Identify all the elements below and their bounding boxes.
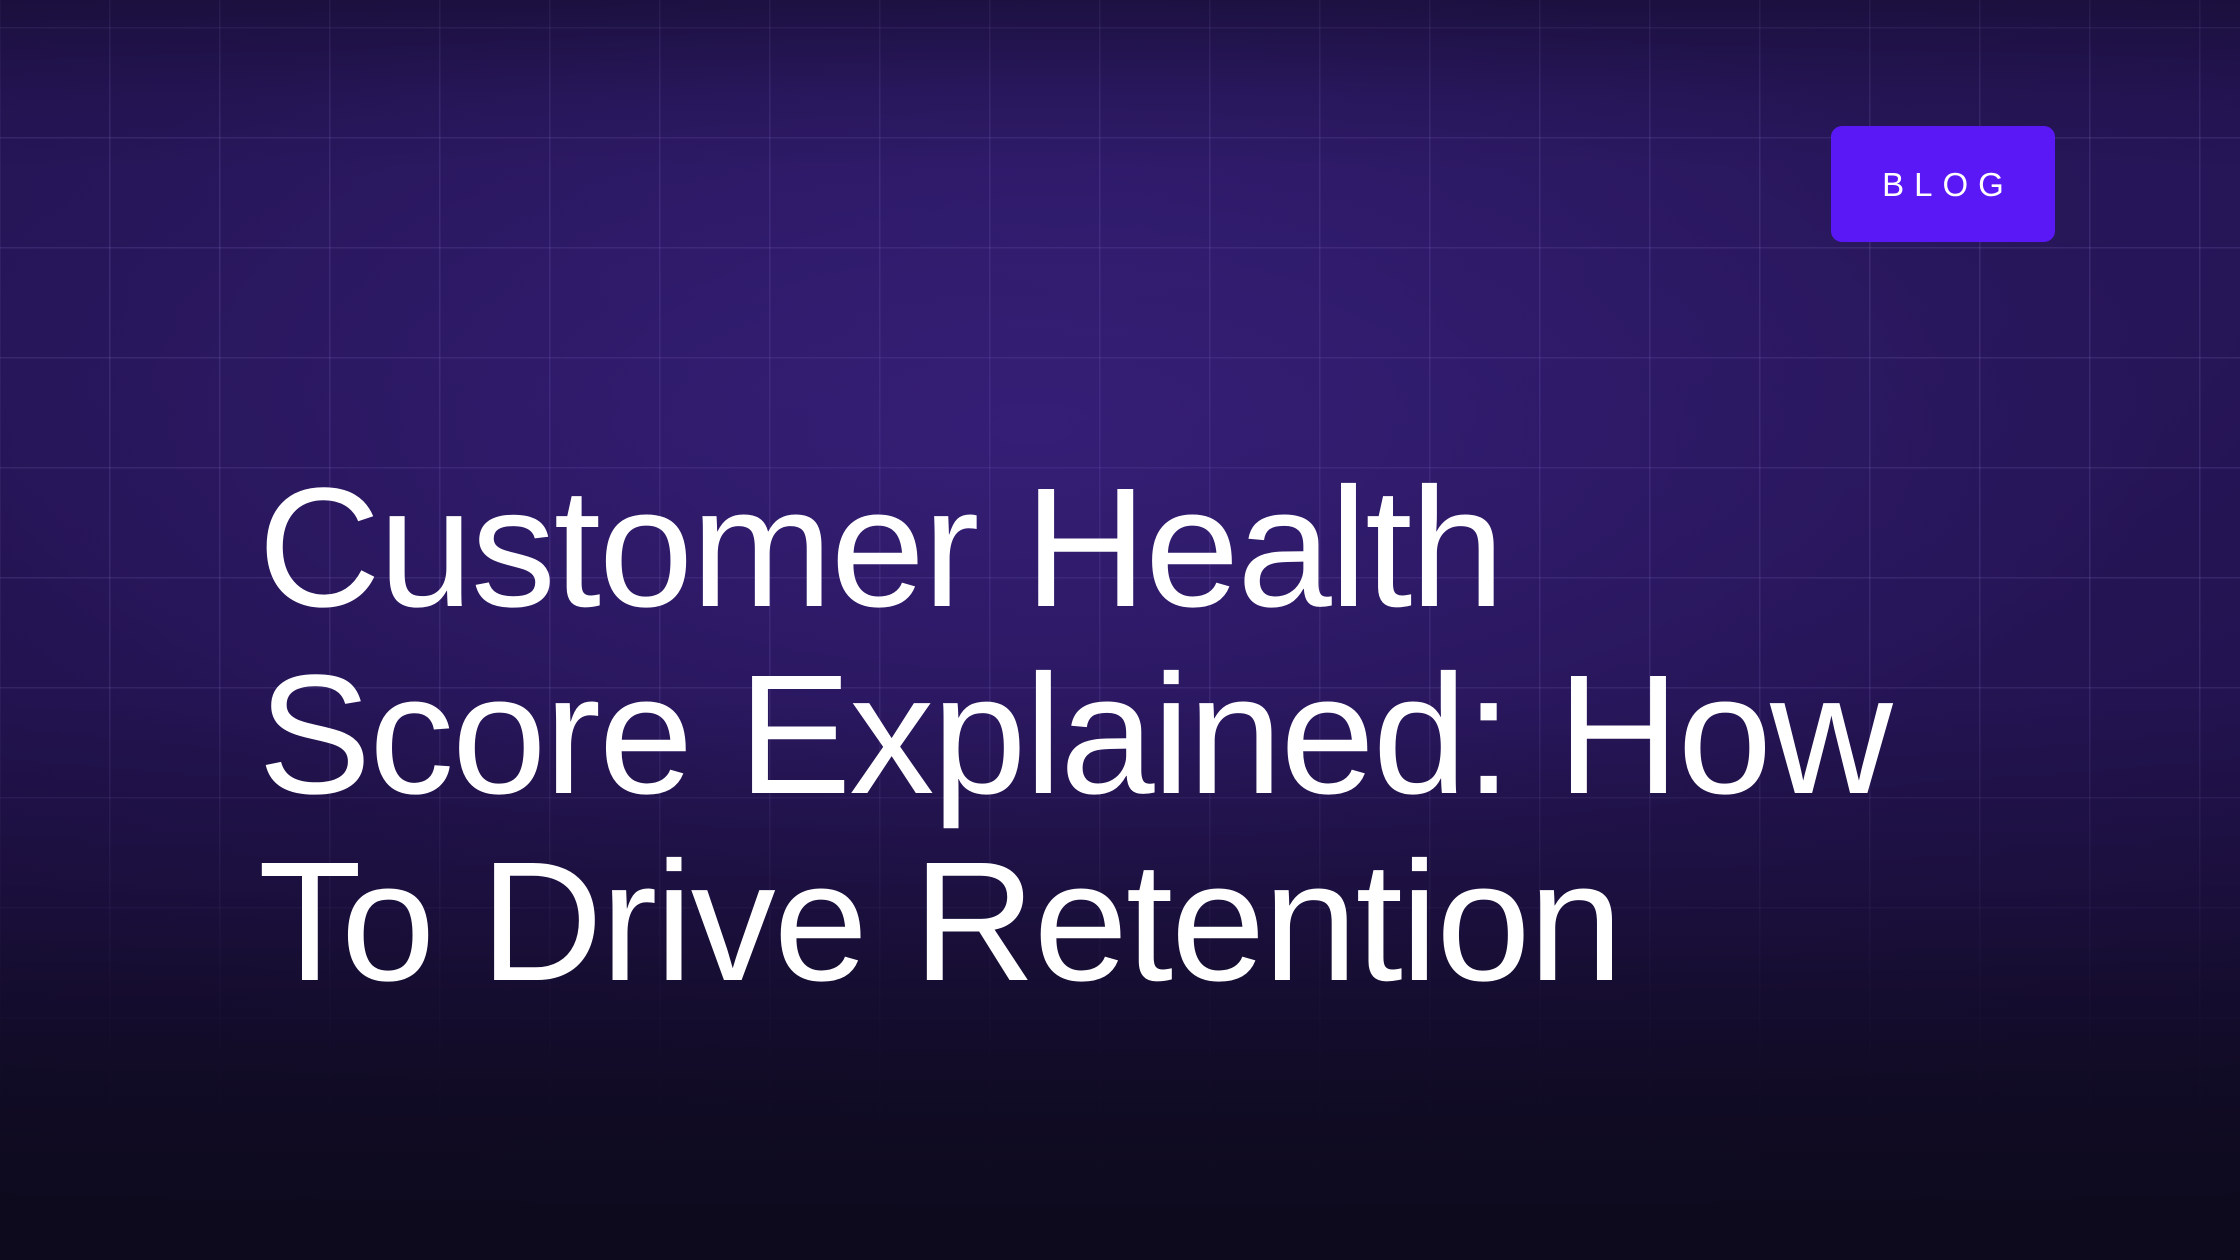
- hero-content: BLOG Customer Health Score Explained: Ho…: [0, 0, 2240, 1260]
- page-title: Customer Health Score Explained: How To …: [258, 455, 1758, 1016]
- blog-category-badge-label: BLOG: [1872, 168, 2014, 201]
- blog-category-badge[interactable]: BLOG: [1831, 126, 2055, 242]
- blog-hero-card: BLOG Customer Health Score Explained: Ho…: [0, 0, 2240, 1260]
- page-title-line-3: To Drive Retention: [258, 829, 1758, 1016]
- page-title-line-2: Score Explained: How: [258, 642, 1758, 829]
- page-title-line-1: Customer Health: [258, 455, 1758, 642]
